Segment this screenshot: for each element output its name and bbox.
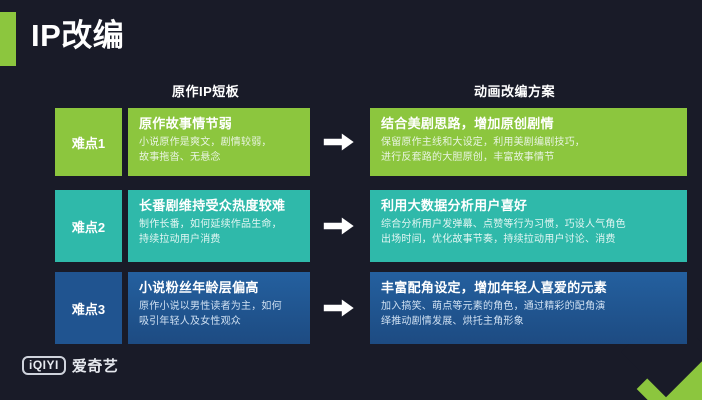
difficulty-badge: 难点1 [55, 108, 122, 176]
solution-body: 保留原作主线和大设定，利用美剧编剧技巧， 进行反套路的大胆原创，丰富故事情节 [381, 135, 676, 165]
brand-name: 爱奇艺 [72, 355, 119, 376]
problem-body-line: 持续拉动用户消费 [139, 232, 299, 247]
solution-body-line: 保留原作主线和大设定，利用美剧编剧技巧， [381, 135, 676, 150]
problem-card: 长番剧维持受众热度较难 制作长番，如何延续作品生命， 持续拉动用户消费 [128, 190, 310, 262]
brand-logo: iQIYI 爱奇艺 [22, 355, 118, 376]
problem-body-line: 制作长番，如何延续作品生命， [139, 217, 299, 232]
solution-body-line: 出场时间，优化故事节奏，持续拉动用户讨论、消费 [381, 232, 676, 247]
table-row: 难点1 原作故事情节弱 小说原作是爽文，剧情较弱， 故事拖沓、无悬念 结合美剧思… [0, 108, 702, 176]
problem-card: 小说粉丝年龄层偏高 原作小说以男性读者为主，如何 吸引年轻人及女性观众 [128, 272, 310, 344]
solution-card: 丰富配角设定，增加年轻人喜爱的元素 加入搞笑、萌点等元素的角色，通过精彩的配角演… [370, 272, 687, 344]
solution-card: 结合美剧思路，增加原创剧情 保留原作主线和大设定，利用美剧编剧技巧， 进行反套路… [370, 108, 687, 176]
column-header-solutions: 动画改编方案 [474, 81, 555, 100]
problem-card: 原作故事情节弱 小说原作是爽文，剧情较弱， 故事拖沓、无悬念 [128, 108, 310, 176]
difficulty-badge: 难点3 [55, 272, 122, 344]
accent-bar-top-left [0, 12, 16, 66]
problem-body: 制作长番，如何延续作品生命， 持续拉动用户消费 [139, 217, 299, 247]
solution-body-line: 综合分析用户发弹幕、点赞等行为习惯，巧设人气角色 [381, 217, 676, 232]
problem-body-line: 原作小说以男性读者为主，如何 [139, 299, 299, 314]
problem-title: 长番剧维持受众热度较难 [139, 197, 299, 215]
problem-body-line: 故事拖沓、无悬念 [139, 150, 299, 165]
solution-body-line: 加入搞笑、萌点等元素的角色，通过精彩的配角演 [381, 299, 676, 314]
table-row: 难点2 长番剧维持受众热度较难 制作长番，如何延续作品生命， 持续拉动用户消费 … [0, 190, 702, 262]
difficulty-badge: 难点2 [55, 190, 122, 262]
solution-title: 结合美剧思路，增加原创剧情 [381, 115, 676, 133]
accent-chevron-bottom-right [616, 338, 702, 400]
table-row: 难点3 小说粉丝年龄层偏高 原作小说以男性读者为主，如何 吸引年轻人及女性观众 … [0, 272, 702, 344]
solution-body: 加入搞笑、萌点等元素的角色，通过精彩的配角演 绎推动剧情发展、烘托主角形象 [381, 299, 676, 329]
solution-title: 丰富配角设定，增加年轻人喜爱的元素 [381, 279, 676, 297]
solution-title: 利用大数据分析用户喜好 [381, 197, 676, 215]
slide-root: IP改编 原作IP短板 动画改编方案 难点1 原作故事情节弱 小说原作是爽文，剧… [0, 0, 702, 400]
arrow-right-icon [322, 296, 356, 320]
solution-body: 综合分析用户发弹幕、点赞等行为习惯，巧设人气角色 出场时间，优化故事节奏，持续拉… [381, 217, 676, 247]
problem-title: 原作故事情节弱 [139, 115, 299, 133]
column-header-problems: 原作IP短板 [172, 81, 239, 100]
iqiyi-mark-icon: iQIYI [22, 356, 66, 376]
problem-body-line: 小说原作是爽文，剧情较弱， [139, 135, 299, 150]
solution-body-line: 绎推动剧情发展、烘托主角形象 [381, 314, 676, 329]
solution-card: 利用大数据分析用户喜好 综合分析用户发弹幕、点赞等行为习惯，巧设人气角色 出场时… [370, 190, 687, 262]
problem-title: 小说粉丝年龄层偏高 [139, 279, 299, 297]
arrow-right-icon [322, 130, 356, 154]
solution-body-line: 进行反套路的大胆原创，丰富故事情节 [381, 150, 676, 165]
problem-body-line: 吸引年轻人及女性观众 [139, 314, 299, 329]
arrow-right-icon [322, 214, 356, 238]
problem-body: 小说原作是爽文，剧情较弱， 故事拖沓、无悬念 [139, 135, 299, 165]
problem-body: 原作小说以男性读者为主，如何 吸引年轻人及女性观众 [139, 299, 299, 329]
page-title: IP改编 [31, 20, 124, 51]
